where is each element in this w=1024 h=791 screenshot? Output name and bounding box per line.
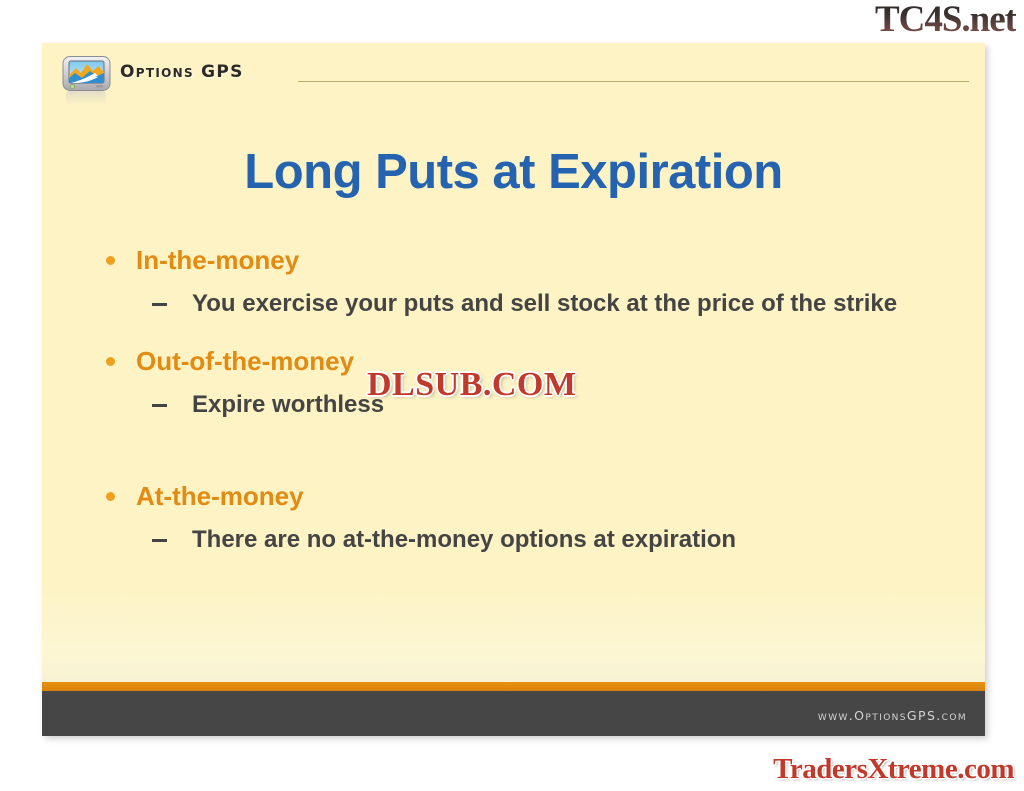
- slide-header: Options GPS: [42, 43, 985, 101]
- sub-bullet: You exercise your puts and sell stock at…: [94, 288, 955, 320]
- sub-bullet-label: You exercise your puts and sell stock at…: [192, 290, 897, 317]
- sub-bullet: There are no at-the-money options at exp…: [94, 524, 955, 556]
- sub-bullet-label: Expire worthless: [192, 391, 384, 418]
- dash-icon: [152, 404, 167, 407]
- header-divider: [298, 81, 969, 82]
- slide-footer: www.OptionsGPS.com: [42, 691, 985, 736]
- bullet-block-at-the-money: At-the-money There are no at-the-money o…: [94, 479, 955, 556]
- bullet-heading: At-the-money: [94, 479, 955, 513]
- bullet-block-in-the-money: In-the-money You exercise your puts and …: [94, 243, 955, 320]
- dash-icon: [152, 303, 167, 306]
- tradersxtreme-watermark: TradersXtreme.com: [773, 751, 1014, 787]
- bullet-heading-label: In-the-money: [136, 245, 299, 275]
- bullet-heading-label: Out-of-the-money: [136, 346, 354, 376]
- sub-bullet-label: There are no at-the-money options at exp…: [192, 526, 736, 553]
- bullet-dot-icon: [106, 256, 115, 265]
- gps-device-icon: [62, 55, 112, 93]
- footer-url-label: www.OptionsGPS.com: [818, 708, 967, 723]
- brand-label: Options GPS: [120, 62, 244, 82]
- dlsub-watermark: DLSUB.COM: [367, 365, 576, 405]
- logo-reflection: [66, 91, 106, 105]
- bullet-dot-icon: [106, 357, 115, 366]
- bullet-dot-icon: [106, 492, 115, 501]
- slide-title: Long Puts at Expiration: [42, 143, 985, 201]
- tc4s-watermark: TC4S.net: [875, 0, 1016, 42]
- footer-accent-stripe: [42, 682, 985, 691]
- bullet-heading-label: At-the-money: [136, 481, 304, 511]
- slide: Options GPS Long Puts at Expiration In-t…: [42, 43, 985, 736]
- dash-icon: [152, 539, 167, 542]
- bullet-heading: In-the-money: [94, 243, 955, 277]
